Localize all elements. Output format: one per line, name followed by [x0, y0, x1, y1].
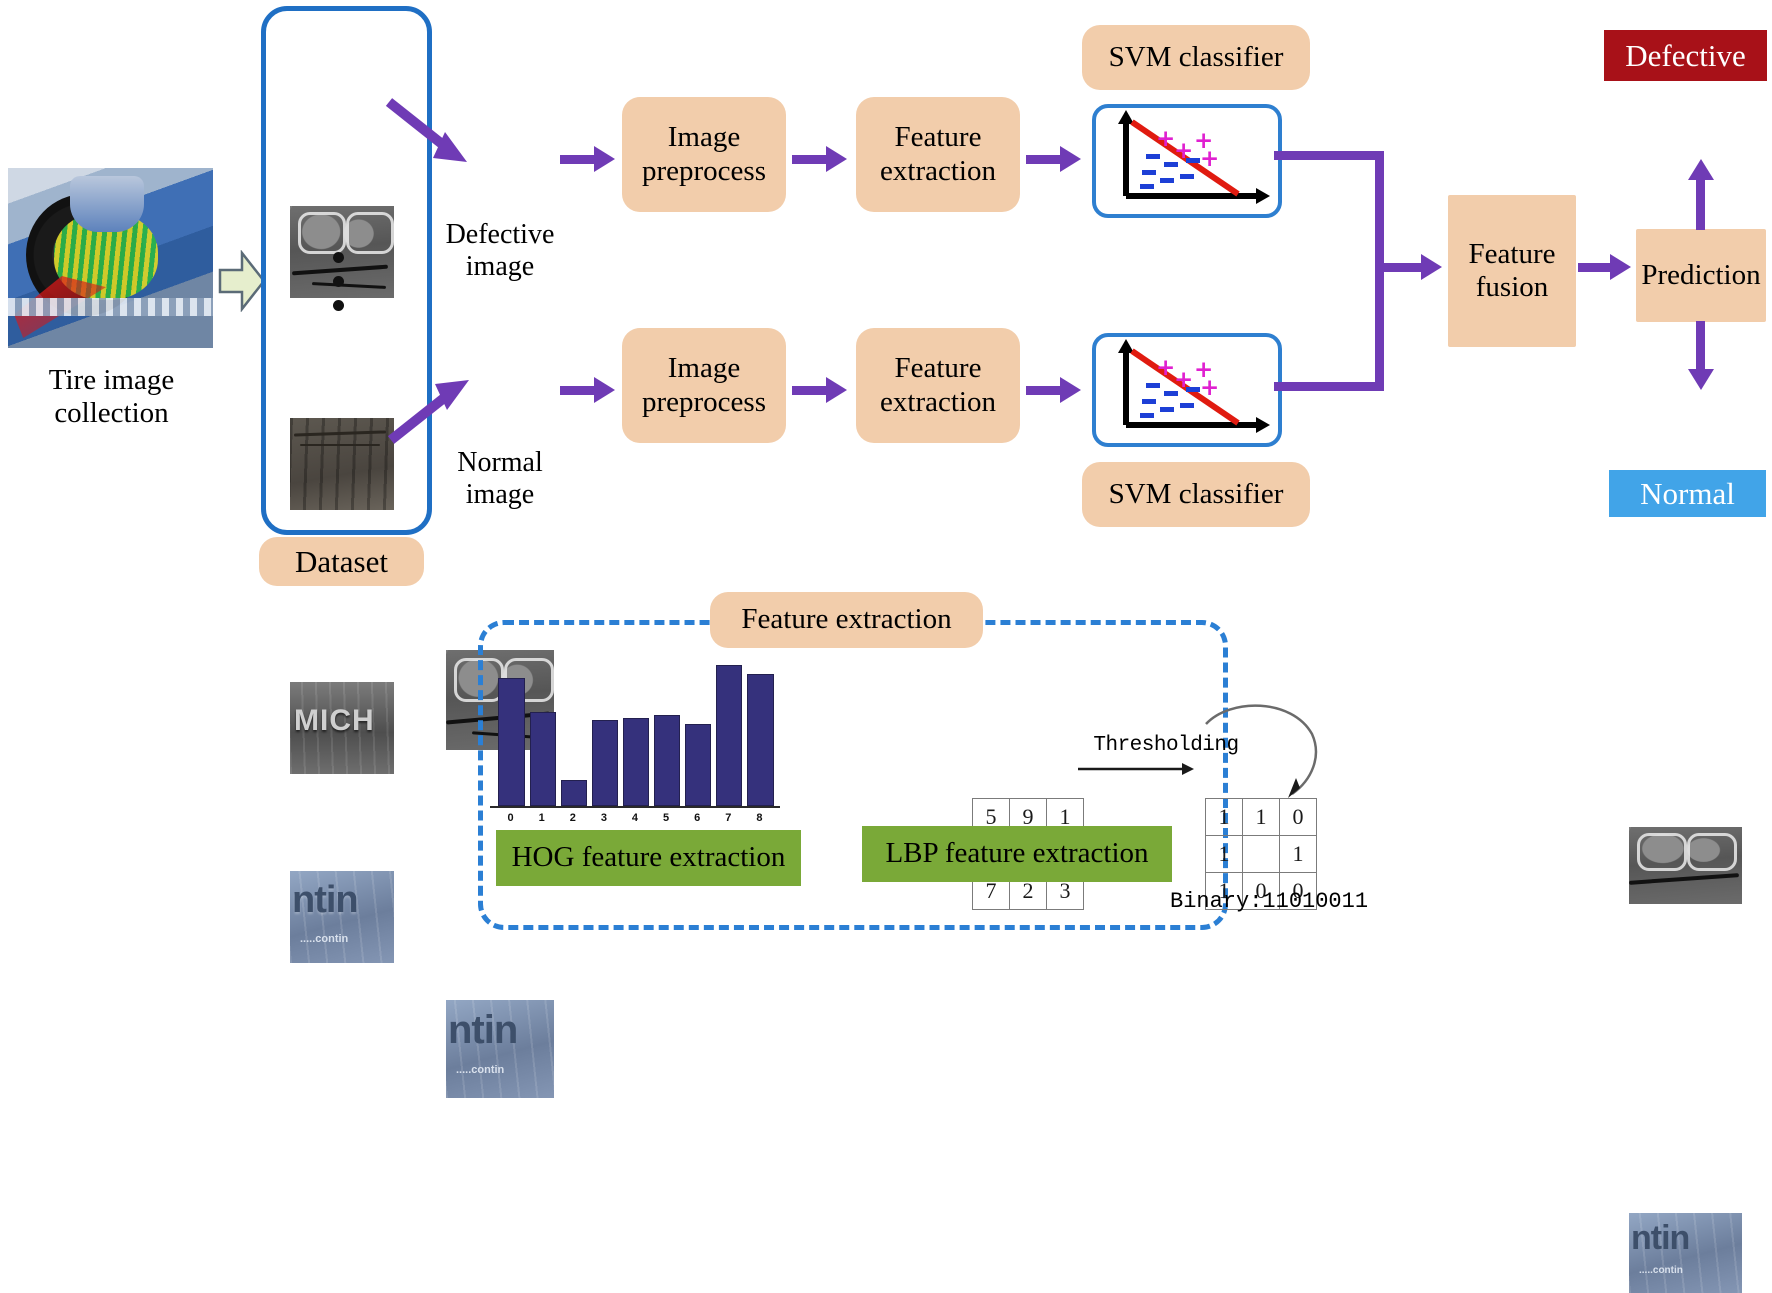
- hog-tick-label: 3: [588, 812, 619, 824]
- hog-bar: [498, 678, 524, 806]
- hog-bar: [685, 724, 711, 806]
- result-defective-image: [1629, 827, 1742, 904]
- arrow-defective-to-preprocess: [560, 155, 596, 164]
- feature-extraction-top-label: Feature extraction: [856, 121, 1020, 188]
- ellipsis-dot: [333, 252, 344, 263]
- arrow-preprocess-to-feature-bottom: [792, 386, 828, 395]
- feature-extraction-bottom-label: Feature extraction: [856, 352, 1020, 419]
- lbp-rotation-arrow-icon: [1196, 700, 1326, 810]
- prediction-box[interactable]: Prediction: [1636, 229, 1766, 322]
- svm-plot-top: ++ ++: [1092, 104, 1282, 218]
- arrow-svm-bottom-merge: [1274, 382, 1379, 391]
- hog-axis: [490, 806, 780, 808]
- hog-histogram: [495, 658, 775, 806]
- matrix-cell: [1243, 836, 1280, 873]
- feature-extraction-bottom-box[interactable]: Feature extraction: [856, 328, 1020, 443]
- arrow-fusion-to-prediction: [1578, 263, 1612, 272]
- hog-tick-label: 1: [526, 812, 557, 824]
- dataset-label: Dataset: [259, 537, 424, 586]
- arrowhead-icon: [594, 146, 615, 172]
- ellipsis-dot: [333, 300, 344, 311]
- hog-feature-extraction-label: HOG feature extraction: [496, 830, 801, 886]
- feature-extraction-top-box[interactable]: Feature extraction: [856, 97, 1020, 212]
- hog-bar: [716, 665, 742, 806]
- lbp-binary-value: Binary:11010011: [1170, 888, 1380, 914]
- defective-image-caption: Defective image: [432, 215, 568, 287]
- arrowhead-icon: [1421, 254, 1442, 280]
- hog-tick-labels: 012345678: [495, 812, 775, 830]
- lbp-feature-extraction-label: LBP feature extraction: [862, 826, 1172, 882]
- arrowhead-icon: [826, 377, 847, 403]
- hog-bar: [592, 720, 618, 806]
- image-preprocess-top-box[interactable]: Image preprocess: [622, 97, 786, 212]
- dataset-thumb-defective-2: [290, 418, 394, 510]
- prediction-label: Prediction: [1636, 259, 1766, 292]
- lbp-threshold-arrow: [1078, 760, 1196, 778]
- svg-text:+: +: [1200, 375, 1219, 401]
- arrow-merge-to-fusion: [1375, 263, 1423, 272]
- arrow-svm-top-merge: [1274, 151, 1379, 160]
- arrow-prediction-to-normal: [1696, 321, 1705, 371]
- tire-collection-photo: [8, 168, 213, 348]
- image-preprocess-top-label: Image preprocess: [622, 121, 786, 188]
- hog-bar: [747, 674, 773, 806]
- arrowhead-icon: [1688, 369, 1714, 390]
- hog-tick-label: 4: [619, 812, 650, 824]
- arrowhead-icon: [826, 146, 847, 172]
- image-preprocess-bottom-label: Image preprocess: [622, 352, 786, 419]
- hog-tick-label: 7: [713, 812, 744, 824]
- svg-text:+: +: [1156, 126, 1175, 152]
- svm-plot-bottom: ++ ++: [1092, 333, 1282, 447]
- hog-tick-label: 2: [557, 812, 588, 824]
- hog-bar: [623, 718, 649, 806]
- hog-tick-label: 0: [495, 812, 526, 824]
- hog-bar: [654, 715, 680, 806]
- svg-text:+: +: [1156, 355, 1175, 381]
- matrix-row: 11: [1206, 836, 1317, 873]
- arrowhead-icon: [594, 377, 615, 403]
- hog-bar: [561, 780, 587, 806]
- arrow-dataset-to-normal: [385, 368, 475, 448]
- arrowhead-icon: [1688, 159, 1714, 180]
- ellipsis-dot: [333, 276, 344, 287]
- svm-classifier-bottom-label: SVM classifier: [1082, 462, 1310, 527]
- hog-tick-label: 5: [651, 812, 682, 824]
- result-normal-image: ntin .....contin: [1629, 1213, 1742, 1293]
- arrowhead-icon: [1060, 146, 1081, 172]
- hog-tick-label: 6: [682, 812, 713, 824]
- input-chevron-icon: [218, 250, 266, 312]
- arrow-preprocess-to-feature-top: [792, 155, 828, 164]
- feature-fusion-label: Feature fusion: [1448, 238, 1576, 305]
- dataset-thumb-normal-1: MICH: [290, 682, 394, 774]
- feature-fusion-box[interactable]: Feature fusion: [1448, 195, 1576, 347]
- hog-tick-label: 8: [744, 812, 775, 824]
- normal-image-caption: Normal image: [432, 443, 568, 515]
- matrix-cell: 1: [1206, 836, 1243, 873]
- arrow-feature-to-svm-top: [1026, 155, 1062, 164]
- arrowhead-icon: [1060, 377, 1081, 403]
- arrow-feature-to-svm-bottom: [1026, 386, 1062, 395]
- result-defective-badge: Defective: [1604, 30, 1767, 81]
- arrowhead-icon: [1610, 254, 1631, 280]
- feature-extraction-panel-title: Feature extraction: [710, 592, 983, 648]
- arrow-prediction-to-defective: [1696, 178, 1705, 230]
- arrow-normal-to-preprocess: [560, 386, 596, 395]
- matrix-cell: 1: [1280, 836, 1317, 873]
- dataset-thumb-normal-2: ntin .....contin: [290, 871, 394, 963]
- normal-image: ntin .....contin: [446, 1000, 554, 1098]
- svm-classifier-top-label: SVM classifier: [1082, 25, 1310, 90]
- tire-collection-caption: Tire image collection: [14, 358, 209, 436]
- result-normal-badge: Normal: [1609, 470, 1766, 517]
- arrow-dataset-to-defective: [385, 96, 475, 176]
- svg-text:+: +: [1200, 146, 1219, 172]
- hog-bar: [530, 712, 556, 806]
- image-preprocess-bottom-box[interactable]: Image preprocess: [622, 328, 786, 443]
